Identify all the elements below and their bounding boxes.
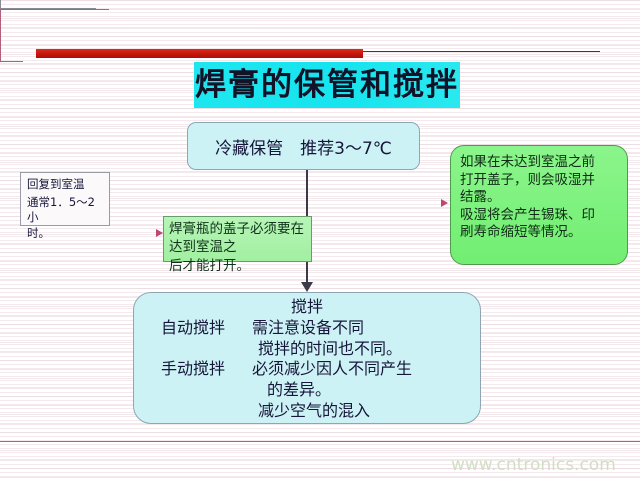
- box-mixing-manual-desc-1: 必须减少因人不同产生: [252, 359, 480, 380]
- arrow-right-icon-room: [156, 229, 163, 237]
- box-mixing: 搅拌 自动搅拌 需注意设备不同 搅拌的时间也不同。 手动搅拌 必须减少因人不同产…: [133, 292, 481, 424]
- box-moisture-warning-line4: 吸湿将会产生锡珠、印: [460, 207, 621, 225]
- site-watermark: www.cntronics.com: [451, 455, 616, 475]
- box-mixing-auto-label: 自动搅拌: [134, 318, 252, 339]
- footer-rule: [0, 441, 640, 442]
- box-mixing-auto-desc-1: 需注意设备不同: [252, 318, 480, 339]
- box-mixing-title: 搅拌: [134, 297, 480, 318]
- box-room-temperature-line1: 回复到室温: [27, 177, 104, 192]
- box-cold-storage-text: 冷藏保管 推荐3～7℃: [215, 134, 392, 159]
- box-mixing-manual-label: 手动搅拌: [134, 359, 252, 380]
- box-lid-instruction: 焊膏瓶的盖子必须要在达到室温之 后才能打开。: [163, 216, 312, 262]
- box-mixing-row-manual: 手动搅拌 必须减少因人不同产生: [134, 359, 480, 380]
- box-mixing-auto-desc-2: 搅拌的时间也不同。: [134, 339, 480, 360]
- connector-warning-vertical: [0, 10, 1, 61]
- slide-canvas: 焊膏的保管和搅拌 冷藏保管 推荐3～7℃ 回复到室温 通常1．5～2小 时。 焊…: [0, 0, 640, 480]
- arrow-right-icon-warning: [441, 199, 448, 207]
- box-moisture-warning-line1: 如果在未达到室温之前: [460, 154, 621, 172]
- box-moisture-warning-line3: 结露。: [460, 189, 621, 207]
- box-room-temperature-line3: 时。: [27, 226, 104, 241]
- box-mixing-manual-desc-3: 减少空气的混入: [134, 401, 480, 422]
- box-moisture-warning-line5: 刷寿命缩短等情况。: [460, 224, 621, 242]
- connector-warning-horizontal-lower: [0, 9, 109, 10]
- box-moisture-warning: 如果在未达到室温之前 打开盖子，则会吸湿并 结露。 吸湿将会产生锡珠、印 刷寿命…: [450, 145, 628, 265]
- box-room-temperature: 回复到室温 通常1．5～2小 时。: [20, 172, 110, 226]
- box-lid-instruction-line1: 焊膏瓶的盖子必须要在达到室温之: [169, 220, 307, 257]
- box-moisture-warning-line2: 打开盖子，则会吸湿并: [460, 172, 621, 190]
- connector-warning-horizontal-upper: [0, 61, 23, 62]
- box-mixing-row-auto: 自动搅拌 需注意设备不同: [134, 318, 480, 339]
- connector-room-vertical: [0, 0, 1, 8]
- box-room-temperature-line2: 通常1．5～2小: [27, 195, 104, 225]
- box-lid-instruction-line2: 后才能打开。: [169, 257, 307, 275]
- connector-cold-to-lid: [306, 170, 308, 216]
- box-cold-storage: 冷藏保管 推荐3～7℃: [187, 122, 420, 170]
- arrow-down-icon: [301, 282, 313, 292]
- box-mixing-manual-desc-2: 的差异。: [134, 380, 480, 401]
